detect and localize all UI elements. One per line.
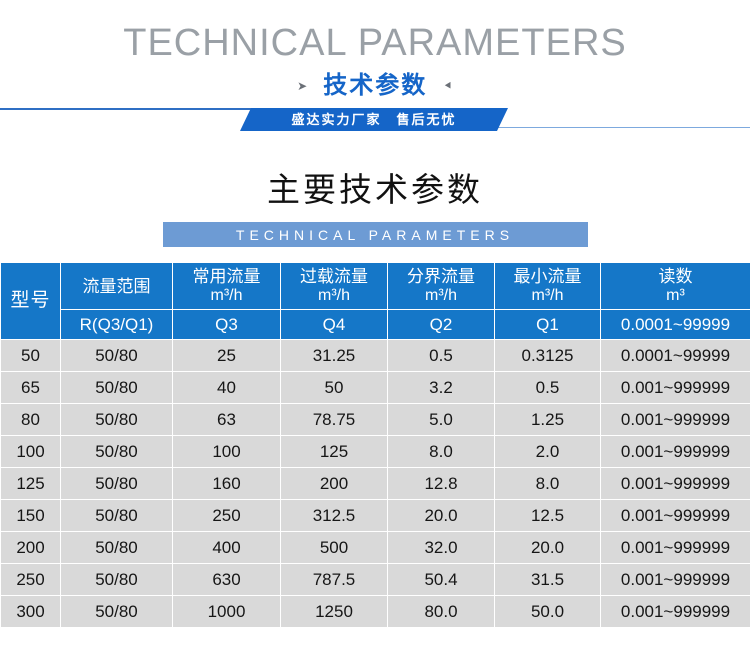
column-header-reading-label: 读数 (659, 267, 693, 286)
page-header: TECHNICAL PARAMETERS ➤ 技术参数 ⯇ 盛达实力厂家 售后无… (0, 0, 750, 140)
column-header-minimum-flow-unit: m³/h (495, 287, 600, 305)
table-cell: 0.3125 (495, 340, 601, 372)
table-cell: 0.001~999999 (601, 564, 750, 596)
divider-line-right (492, 127, 750, 128)
column-header-permanent-flow-unit: m³/h (173, 287, 280, 305)
table-cell: 80.0 (388, 596, 495, 628)
table-cell: 1.25 (495, 404, 601, 436)
table-row: 5050/802531.250.50.31250.0001~99999 (1, 340, 750, 372)
section-title: 主要技术参数 (0, 172, 750, 208)
column-header-transitional-flow-unit: m³/h (388, 287, 494, 305)
table-cell: 100 (1, 436, 61, 468)
table-cell: 0.001~999999 (601, 372, 750, 404)
table-cell: 160 (173, 468, 281, 500)
table-cell: 312.5 (281, 500, 388, 532)
column-header-model: 型号 (1, 263, 61, 340)
table-row: 25050/80630787.550.431.50.001~999999 (1, 564, 750, 596)
table-cell: 0.001~999999 (601, 404, 750, 436)
table-cell: 0.5 (495, 372, 601, 404)
table-row: 12550/8016020012.88.00.001~999999 (1, 468, 750, 500)
table-cell: 78.75 (281, 404, 388, 436)
table-cell: 50/80 (61, 468, 173, 500)
table-cell: 8.0 (388, 436, 495, 468)
table-cell: 25 (173, 340, 281, 372)
table-cell: 0.001~999999 (601, 500, 750, 532)
table-cell: 50/80 (61, 500, 173, 532)
table-cell: 0.001~999999 (601, 532, 750, 564)
parameters-table: 型号 流量范围 常用流量 m³/h 过载流量 m³/h 分界流量 m³/h 最小… (0, 262, 750, 628)
column-header-transitional-flow: 分界流量 m³/h (388, 263, 495, 310)
section-subtitle-text: TECHNICAL PARAMETERS (236, 228, 514, 242)
table-header-row-sub: R(Q3/Q1) Q3 Q4 Q2 Q1 0.0001~99999 (1, 310, 750, 340)
table-row: 6550/8040503.20.50.001~999999 (1, 372, 750, 404)
table-cell: 50/80 (61, 404, 173, 436)
table-cell: 500 (281, 532, 388, 564)
table-cell: 80 (1, 404, 61, 436)
slogan-ribbon: 盛达实力厂家 售后无忧 (240, 108, 508, 131)
table-cell: 50 (1, 340, 61, 372)
arrow-left-icon: ⯇ (443, 80, 453, 92)
subheader-permanent-flow: Q3 (173, 310, 281, 340)
column-header-flow-range: 流量范围 (61, 263, 173, 310)
table-cell: 65 (1, 372, 61, 404)
table-cell: 787.5 (281, 564, 388, 596)
column-header-overload-flow: 过载流量 m³/h (281, 263, 388, 310)
divider-line-left (0, 108, 258, 110)
table-cell: 300 (1, 596, 61, 628)
slogan-ribbon-text: 盛达实力厂家 售后无忧 (291, 113, 456, 126)
column-header-permanent-flow-label: 常用流量 (193, 267, 261, 286)
table-row: 10050/801001258.02.00.001~999999 (1, 436, 750, 468)
table-header-row-top: 型号 流量范围 常用流量 m³/h 过载流量 m³/h 分界流量 m³/h 最小… (1, 263, 750, 310)
table-cell: 50/80 (61, 372, 173, 404)
table-cell: 12.5 (495, 500, 601, 532)
subheader-overload-flow: Q4 (281, 310, 388, 340)
table-cell: 50.4 (388, 564, 495, 596)
table-cell: 63 (173, 404, 281, 436)
table-cell: 32.0 (388, 532, 495, 564)
column-header-transitional-flow-label: 分界流量 (407, 267, 475, 286)
column-header-overload-flow-unit: m³/h (281, 287, 387, 305)
table-cell: 125 (281, 436, 388, 468)
header-chinese-row: ➤ 技术参数 ⯇ (0, 74, 750, 98)
header-english-title: TECHNICAL PARAMETERS (0, 24, 750, 62)
column-header-overload-flow-label: 过载流量 (300, 267, 368, 286)
table-cell: 200 (281, 468, 388, 500)
table-cell: 20.0 (495, 532, 601, 564)
table-cell: 0.0001~99999 (601, 340, 750, 372)
table-head: 型号 流量范围 常用流量 m³/h 过载流量 m³/h 分界流量 m³/h 最小… (1, 263, 750, 340)
table-cell: 250 (1, 564, 61, 596)
table-cell: 0.5 (388, 340, 495, 372)
table-cell: 50/80 (61, 564, 173, 596)
table-cell: 250 (173, 500, 281, 532)
table-cell: 12.8 (388, 468, 495, 500)
table-cell: 100 (173, 436, 281, 468)
column-header-minimum-flow: 最小流量 m³/h (495, 263, 601, 310)
table-cell: 0.001~999999 (601, 596, 750, 628)
subheader-reading: 0.0001~99999 (601, 310, 750, 340)
table-cell: 31.25 (281, 340, 388, 372)
column-header-reading: 读数 m³ (601, 263, 750, 310)
table-cell: 40 (173, 372, 281, 404)
header-chinese-title: 技术参数 (323, 74, 427, 98)
column-header-reading-unit: m³ (601, 287, 750, 305)
section-heading: 主要技术参数 TECHNICAL PARAMETERS (0, 172, 750, 247)
section-subtitle-bar: TECHNICAL PARAMETERS (163, 222, 588, 247)
table-cell: 50/80 (61, 532, 173, 564)
table-cell: 3.2 (388, 372, 495, 404)
subheader-flow-range: R(Q3/Q1) (61, 310, 173, 340)
table-cell: 20.0 (388, 500, 495, 532)
parameters-table-wrapper: 型号 流量范围 常用流量 m³/h 过载流量 m³/h 分界流量 m³/h 最小… (0, 262, 750, 628)
subheader-transitional-flow: Q2 (388, 310, 495, 340)
table-row: 20050/8040050032.020.00.001~999999 (1, 532, 750, 564)
table-row: 8050/806378.755.01.250.001~999999 (1, 404, 750, 436)
subheader-minimum-flow: Q1 (495, 310, 601, 340)
column-header-minimum-flow-label: 最小流量 (514, 267, 582, 286)
table-cell: 200 (1, 532, 61, 564)
table-cell: 2.0 (495, 436, 601, 468)
table-body: 5050/802531.250.50.31250.0001~999996550/… (1, 340, 750, 628)
table-cell: 0.001~999999 (601, 436, 750, 468)
table-cell: 1000 (173, 596, 281, 628)
table-cell: 8.0 (495, 468, 601, 500)
column-header-permanent-flow: 常用流量 m³/h (173, 263, 281, 310)
arrow-right-icon: ➤ (297, 80, 307, 92)
table-cell: 125 (1, 468, 61, 500)
table-cell: 400 (173, 532, 281, 564)
table-row: 30050/801000125080.050.00.001~999999 (1, 596, 750, 628)
table-cell: 31.5 (495, 564, 601, 596)
table-cell: 0.001~999999 (601, 468, 750, 500)
table-cell: 50 (281, 372, 388, 404)
table-cell: 5.0 (388, 404, 495, 436)
table-cell: 630 (173, 564, 281, 596)
table-cell: 50/80 (61, 340, 173, 372)
table-cell: 1250 (281, 596, 388, 628)
table-cell: 50.0 (495, 596, 601, 628)
table-cell: 50/80 (61, 436, 173, 468)
table-row: 15050/80250312.520.012.50.001~999999 (1, 500, 750, 532)
table-cell: 150 (1, 500, 61, 532)
table-cell: 50/80 (61, 596, 173, 628)
